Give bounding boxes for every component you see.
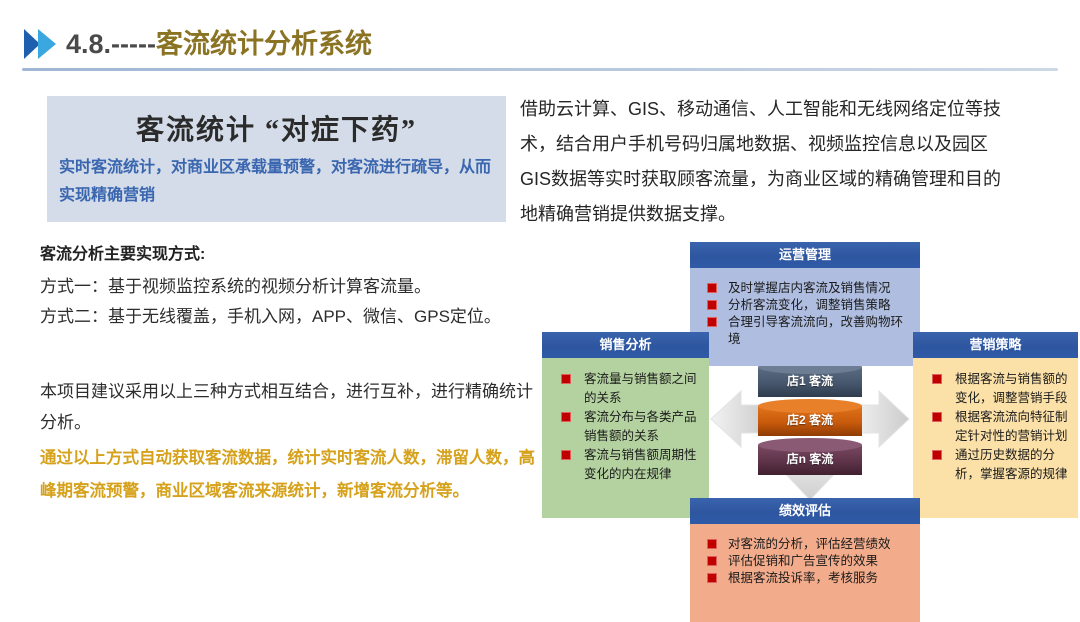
panel-body: 及时掌握店内客流及销售情况 分析客流变化，调整销售策略 合理引导客流流向，改善购… bbox=[690, 268, 920, 366]
list-item: 客流量与销售额之间的关系 bbox=[550, 370, 701, 408]
panel-body: 根据客流与销售额的变化，调整营销手段 根据客流流向特征制定针对性的营销计划 通过… bbox=[913, 358, 1078, 518]
panel-title: 运营管理 bbox=[779, 247, 831, 262]
cylinder-store-n: 店n 客流 bbox=[758, 438, 862, 478]
list-item: 对客流的分析，评估经营绩效 bbox=[698, 536, 912, 553]
cycle-diagram: 店n 客流 店2 客流 店1 客流 运营管理 bbox=[540, 232, 1080, 608]
cylinder-label: 店1 客流 bbox=[758, 372, 862, 389]
methods-block: 客流分析主要实现方式: 方式一：基于视频监控系统的视频分析计算客流量。 方式二：… bbox=[40, 240, 540, 332]
conclusion-highlight: 通过以上方式自动获取客流数据，统计实时客流人数，滞留人数，高峰期客流预警，商业区… bbox=[40, 442, 540, 508]
bullet-list: 客流量与销售额之间的关系 客流分布与各类产品销售额的关系 客流与销售额周期性变化… bbox=[550, 370, 701, 484]
page-title: 4.8.-----客流统计分析系统 bbox=[22, 22, 1058, 66]
quote-body: 实时客流统计，对商业区承载量预警，对客流进行疏导，从而实现精确营销 bbox=[47, 148, 506, 210]
list-item: 客流与销售额周期性变化的内在规律 bbox=[550, 446, 701, 484]
quote-box: 客流统计 “对症下药” 实时客流统计，对商业区承载量预警，对客流进行疏导，从而实… bbox=[47, 96, 506, 222]
bullet-list: 根据客流与销售额的变化，调整营销手段 根据客流流向特征制定针对性的营销计划 通过… bbox=[921, 370, 1070, 484]
conclusion-paragraph: 本项目建议采用以上三种方式相互结合，进行互补，进行精确统计分析。 bbox=[40, 376, 540, 438]
cylinder-label: 店2 客流 bbox=[758, 411, 862, 428]
panel-header: 运营管理 bbox=[690, 242, 920, 268]
title-divider bbox=[22, 68, 1058, 71]
intro-paragraph: 借助云计算、GIS、移动通信、人工智能和无线网络定位等技术，结合用户手机号码归属… bbox=[520, 92, 1010, 232]
panel-header: 营销策略 bbox=[913, 332, 1078, 358]
list-item: 分析客流变化，调整销售策略 bbox=[698, 297, 912, 314]
panel-performance-evaluation[interactable]: 绩效评估 对客流的分析，评估经营绩效 评估促销和广告宣传的效果 根据客流投诉率，… bbox=[690, 498, 920, 622]
double-chevron-right-icon bbox=[22, 27, 62, 61]
list-item: 根据客流与销售额的变化，调整营销手段 bbox=[921, 370, 1070, 408]
slide: 4.8.-----客流统计分析系统 客流统计 “对症下药” 实时客流统计，对商业… bbox=[0, 0, 1080, 608]
panel-header: 销售分析 bbox=[542, 332, 709, 358]
list-item: 根据客流投诉率，考核服务 bbox=[698, 570, 912, 587]
bullet-list: 及时掌握店内客流及销售情况 分析客流变化，调整销售策略 合理引导客流流向，改善购… bbox=[698, 280, 912, 348]
conclusion-block: 本项目建议采用以上三种方式相互结合，进行互补，进行精确统计分析。 通过以上方式自… bbox=[40, 376, 540, 508]
method-item: 方式二：基于无线覆盖，手机入网，APP、微信、GPS定位。 bbox=[40, 302, 540, 332]
panel-body: 对客流的分析，评估经营绩效 评估促销和广告宣传的效果 根据客流投诉率，考核服务 bbox=[690, 524, 920, 622]
bullet-list: 对客流的分析，评估经营绩效 评估促销和广告宣传的效果 根据客流投诉率，考核服务 bbox=[698, 536, 912, 587]
panel-body: 客流量与销售额之间的关系 客流分布与各类产品销售额的关系 客流与销售额周期性变化… bbox=[542, 358, 709, 518]
list-item: 及时掌握店内客流及销售情况 bbox=[698, 280, 912, 297]
methods-heading: 客流分析主要实现方式: bbox=[40, 240, 540, 264]
list-item: 根据客流流向特征制定针对性的营销计划 bbox=[921, 408, 1070, 446]
cylinder-store-1: 店1 客流 bbox=[758, 360, 862, 400]
list-item: 客流分布与各类产品销售额的关系 bbox=[550, 408, 701, 446]
list-item: 评估促销和广告宣传的效果 bbox=[698, 553, 912, 570]
list-item: 合理引导客流流向，改善购物环境 bbox=[698, 314, 912, 348]
panel-sales-analysis[interactable]: 销售分析 客流量与销售额之间的关系 客流分布与各类产品销售额的关系 客流与销售额… bbox=[542, 332, 709, 518]
cylinder-label: 店n 客流 bbox=[758, 450, 862, 467]
panel-title: 绩效评估 bbox=[779, 503, 831, 518]
panel-header: 绩效评估 bbox=[690, 498, 920, 524]
list-item: 通过历史数据的分析，掌握客源的规律 bbox=[921, 446, 1070, 484]
panel-title: 营销策略 bbox=[969, 337, 1021, 352]
panel-title: 销售分析 bbox=[599, 337, 651, 352]
cylinder-store-2: 店2 客流 bbox=[758, 399, 862, 439]
panel-marketing-strategy[interactable]: 营销策略 根据客流与销售额的变化，调整营销手段 根据客流流向特征制定针对性的营销… bbox=[913, 332, 1078, 518]
panel-operations-management[interactable]: 运营管理 及时掌握店内客流及销售情况 分析客流变化，调整销售策略 合理引导客流流… bbox=[690, 242, 920, 366]
quote-heading: 客流统计 “对症下药” bbox=[47, 96, 506, 148]
title-name: 客流统计分析系统 bbox=[156, 29, 372, 59]
title-number: 4.8.----- bbox=[66, 29, 156, 59]
store-cylinder-stack: 店n 客流 店2 客流 店1 客流 bbox=[758, 360, 862, 478]
method-item: 方式一：基于视频监控系统的视频分析计算客流量。 bbox=[40, 272, 540, 302]
